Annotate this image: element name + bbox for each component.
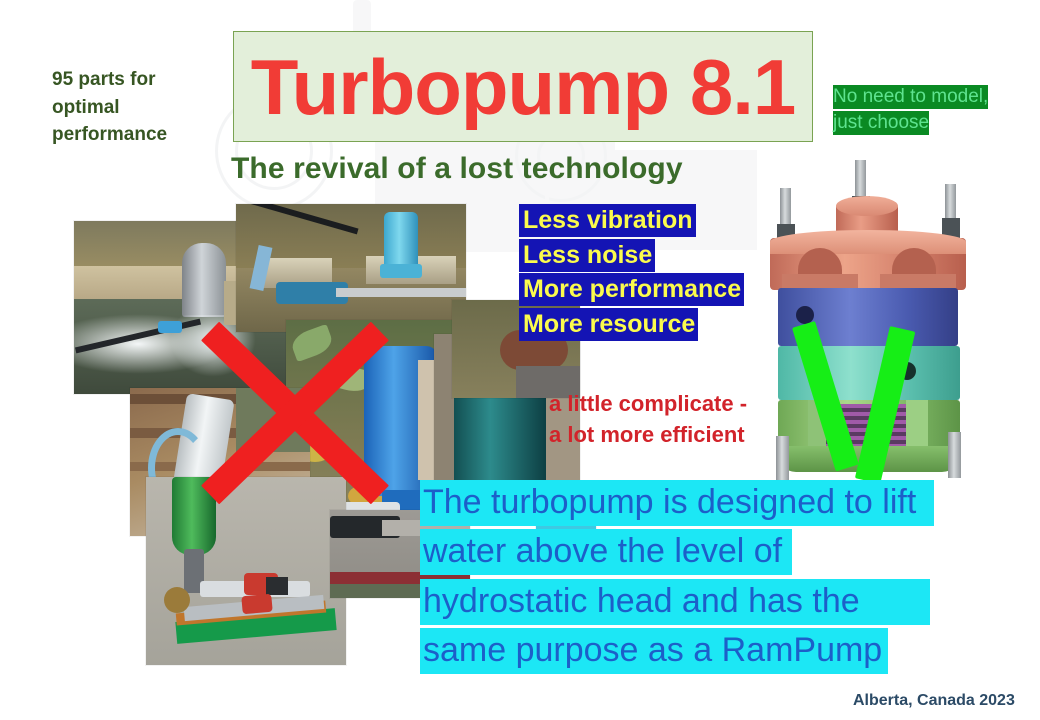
page-title: Turbopump 8.1 bbox=[234, 32, 812, 141]
page-subtitle: The revival of a lost technology bbox=[231, 152, 683, 186]
benefit-item: Less noise bbox=[519, 238, 784, 273]
paragraph-line-1: The turbopump is designed to lift bbox=[420, 480, 934, 526]
no-model-line-2: just choose bbox=[833, 111, 929, 135]
benefit-label: Less vibration bbox=[519, 204, 696, 237]
benefit-item: More resource bbox=[519, 307, 784, 342]
parts-note-line-3: performance bbox=[52, 121, 232, 149]
benefit-item: Less vibration bbox=[519, 203, 784, 238]
benefit-label: Less noise bbox=[519, 239, 655, 272]
title-box: Turbopump 8.1 bbox=[233, 31, 813, 142]
parts-note-line-2: optimal bbox=[52, 94, 232, 122]
slide-canvas: 95 parts for optimal performance Turbopu… bbox=[0, 0, 1040, 720]
tradeoff-note: a little complicate - a lot more efficie… bbox=[549, 388, 819, 450]
collage-photo-2 bbox=[236, 204, 466, 332]
red-x-mark-icon bbox=[200, 320, 390, 505]
paragraph-line-4: same purpose as a RamPump bbox=[420, 628, 888, 674]
credit-line: Alberta, Canada 2023 bbox=[853, 692, 1015, 710]
paragraph-line-2: water above the level of bbox=[420, 529, 792, 575]
no-model-line-1: No need to model, bbox=[833, 85, 988, 109]
tradeoff-line-1: a little complicate - bbox=[549, 388, 819, 419]
benefit-label: More resource bbox=[519, 308, 698, 341]
no-need-to-model-note: No need to model, just choose bbox=[833, 84, 1040, 136]
parts-note-line-1: 95 parts for bbox=[52, 66, 232, 94]
benefit-item: More performance bbox=[519, 272, 784, 307]
benefit-label: More performance bbox=[519, 273, 744, 306]
benefits-list: Less vibration Less noise More performan… bbox=[519, 203, 784, 341]
tradeoff-line-2: a lot more efficient bbox=[549, 419, 819, 450]
paragraph-line-3: hydrostatic head and has the bbox=[420, 579, 930, 625]
collage-photo-5 bbox=[146, 477, 346, 665]
parts-count-note: 95 parts for optimal performance bbox=[52, 66, 232, 149]
description-paragraph: The turbopump is designed to lift water … bbox=[420, 478, 1020, 675]
